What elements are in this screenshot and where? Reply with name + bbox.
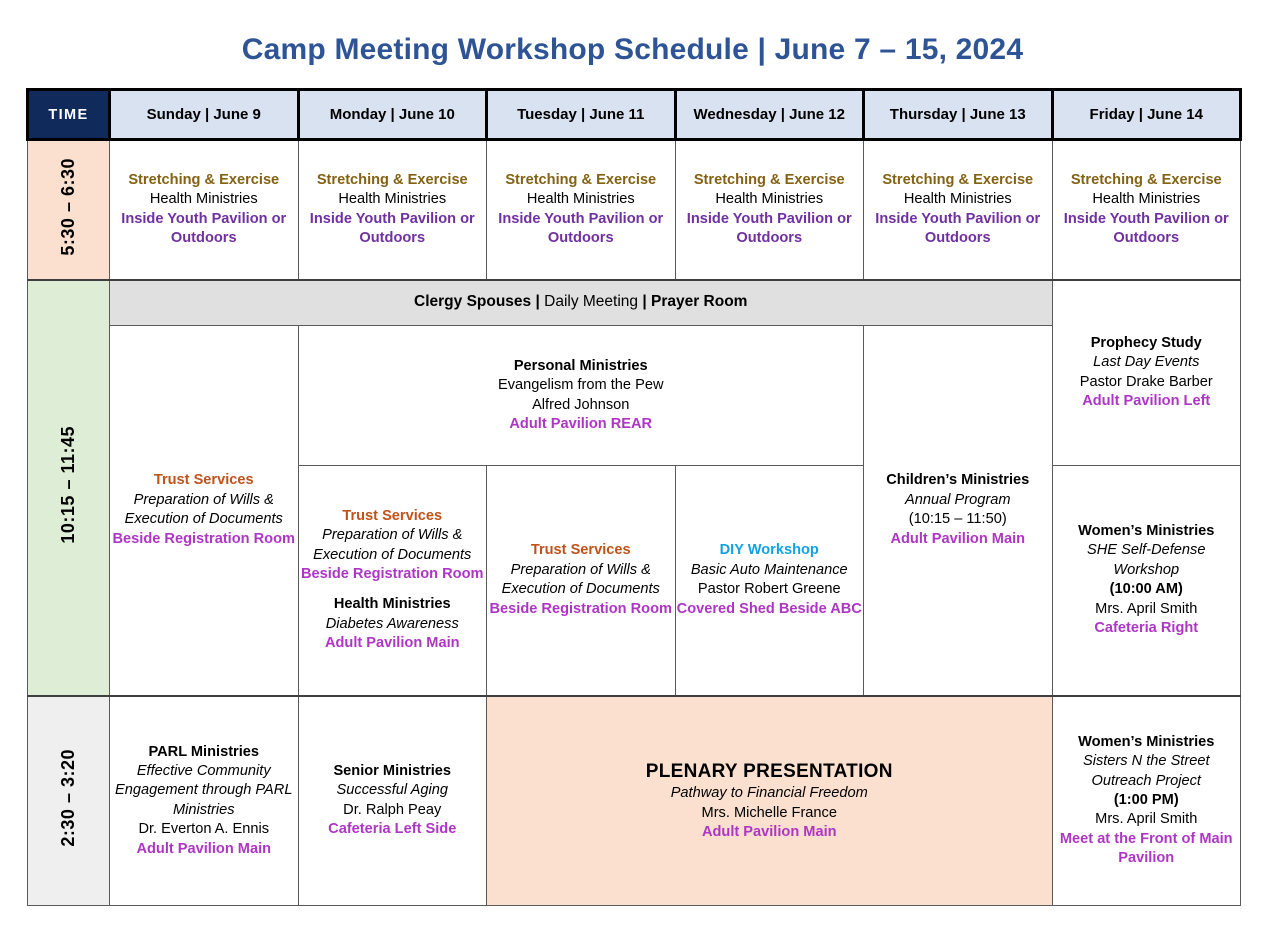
- event-location: Inside Youth Pavilion or Outdoors: [487, 210, 675, 249]
- cell-midday-friday-prophecy[interactable]: Prophecy Study Last Day Events Pastor Dr…: [1052, 280, 1241, 466]
- event-dept: Health Ministries: [1053, 190, 1241, 209]
- event-dept: Health Ministries: [487, 190, 675, 209]
- event-subtitle: Preparation of Wills & Execution of Docu…: [299, 526, 487, 565]
- event-dept: Health Ministries: [110, 190, 298, 209]
- cell-midday-tuesday-trust[interactable]: Trust Services Preparation of Wills & Ex…: [487, 466, 676, 696]
- event-location: Beside Registration Room: [487, 600, 675, 619]
- event-location: Adult Pavilion Main: [110, 840, 298, 859]
- event-location: Beside Registration Room: [299, 565, 487, 584]
- cell-midday-personal-ministries[interactable]: Personal Ministries Evangelism from the …: [298, 326, 864, 466]
- event-subtitle: Evangelism from the Pew: [299, 376, 864, 395]
- event-title: Trust Services: [110, 471, 298, 490]
- event-subtitle: Preparation of Wills & Execution of Docu…: [110, 491, 298, 530]
- event-time-note: (10:15 – 11:50): [864, 510, 1052, 529]
- cell-midday-wednesday-diy[interactable]: DIY Workshop Basic Auto Maintenance Past…: [675, 466, 864, 696]
- header-day-thursday[interactable]: Thursday | June 13: [864, 90, 1053, 140]
- event-location: Cafeteria Right: [1053, 619, 1241, 638]
- event-subtitle: Pathway to Financial Freedom: [487, 784, 1052, 803]
- event-title: Children’s Ministries: [864, 471, 1052, 490]
- event-location: Adult Pavilion Main: [487, 823, 1052, 842]
- event-title: Stretching & Exercise: [299, 171, 487, 190]
- cell-afternoon-friday-womens[interactable]: Women’s Ministries Sisters N the Street …: [1052, 696, 1241, 906]
- clergy-room: Prayer Room: [651, 293, 747, 310]
- event-title: DIY Workshop: [676, 541, 864, 560]
- cell-afternoon-sunday-parl[interactable]: PARL Ministries Effective Community Enga…: [110, 696, 299, 906]
- event-presenter: Pastor Robert Greene: [676, 580, 864, 599]
- event-presenter: Pastor Drake Barber: [1053, 373, 1241, 392]
- table-header-row: TIME Sunday | June 9 Monday | June 10 Tu…: [28, 90, 1241, 140]
- event-time-note: (1:00 PM): [1053, 791, 1241, 810]
- event-subtitle-2: Diabetes Awareness: [299, 615, 487, 634]
- event-location: Covered Shed Beside ABC: [676, 600, 864, 619]
- event-presenter: Alfred Johnson: [299, 396, 864, 415]
- header-day-friday[interactable]: Friday | June 14: [1052, 90, 1241, 140]
- event-location: Inside Youth Pavilion or Outdoors: [299, 210, 487, 249]
- separator-1: |: [531, 293, 544, 310]
- cell-afternoon-plenary[interactable]: PLENARY PRESENTATION Pathway to Financia…: [487, 696, 1053, 906]
- cell-midday-friday-womens[interactable]: Women’s Ministries SHE Self-Defense Work…: [1052, 466, 1241, 696]
- clergy-title: Clergy Spouses: [414, 293, 531, 310]
- header-day-sunday[interactable]: Sunday | June 9: [110, 90, 299, 140]
- header-day-tuesday[interactable]: Tuesday | June 11: [487, 90, 676, 140]
- event-title: PARL Ministries: [110, 743, 298, 762]
- event-subtitle: Effective Community Engagement through P…: [110, 762, 298, 820]
- cell-morning-friday[interactable]: Stretching & Exercise Health Ministries …: [1052, 140, 1241, 280]
- event-presenter: Mrs. Michelle France: [487, 804, 1052, 823]
- event-title: Senior Ministries: [299, 762, 487, 781]
- event-title: Stretching & Exercise: [1053, 171, 1241, 190]
- event-subtitle: Annual Program: [864, 491, 1052, 510]
- event-time-note: (10:00 AM): [1053, 580, 1241, 599]
- event-title: Women’s Ministries: [1053, 522, 1241, 541]
- page-title: Camp Meeting Workshop Schedule | June 7 …: [0, 0, 1265, 88]
- event-title: Prophecy Study: [1053, 334, 1241, 353]
- cell-morning-monday[interactable]: Stretching & Exercise Health Ministries …: [298, 140, 487, 280]
- event-location: Cafeteria Left Side: [299, 820, 487, 839]
- event-location-2: Adult Pavilion Main: [299, 634, 487, 653]
- event-title: Stretching & Exercise: [110, 171, 298, 190]
- event-location: Adult Pavilion Main: [864, 530, 1052, 549]
- header-day-monday[interactable]: Monday | June 10: [298, 90, 487, 140]
- header-time: TIME: [28, 90, 110, 140]
- event-title: Stretching & Exercise: [487, 171, 675, 190]
- workshop-schedule-table: TIME Sunday | June 9 Monday | June 10 Tu…: [26, 88, 1242, 906]
- event-title: Stretching & Exercise: [864, 171, 1052, 190]
- event-dept: Health Ministries: [676, 190, 864, 209]
- header-day-wednesday[interactable]: Wednesday | June 12: [675, 90, 864, 140]
- event-location: Inside Youth Pavilion or Outdoors: [864, 210, 1052, 249]
- time-label-afternoon: 2:30 – 3:20: [28, 696, 110, 906]
- event-location: Beside Registration Room: [110, 530, 298, 549]
- cell-morning-thursday[interactable]: Stretching & Exercise Health Ministries …: [864, 140, 1053, 280]
- event-title: Trust Services: [487, 541, 675, 560]
- event-location: Adult Pavilion Left: [1053, 392, 1241, 411]
- event-presenter: Mrs. April Smith: [1053, 810, 1241, 829]
- cell-afternoon-monday-senior[interactable]: Senior Ministries Successful Aging Dr. R…: [298, 696, 487, 906]
- event-subtitle: Basic Auto Maintenance: [676, 561, 864, 580]
- event-dept: Health Ministries: [864, 190, 1052, 209]
- time-label-morning: 5:30 – 6:30: [28, 140, 110, 280]
- event-subtitle: Last Day Events: [1053, 353, 1241, 372]
- event-title-2: Health Ministries: [299, 595, 487, 614]
- event-subtitle: Successful Aging: [299, 781, 487, 800]
- separator-2: |: [638, 293, 651, 310]
- cell-midday-monday[interactable]: Trust Services Preparation of Wills & Ex…: [298, 466, 487, 696]
- event-title: Stretching & Exercise: [676, 171, 864, 190]
- cell-morning-wednesday[interactable]: Stretching & Exercise Health Ministries …: [675, 140, 864, 280]
- time-label-midday: 10:15 – 11:45: [28, 280, 110, 696]
- event-subtitle: Sisters N the Street Outreach Project: [1053, 752, 1241, 791]
- cell-morning-sunday[interactable]: Stretching & Exercise Health Ministries …: [110, 140, 299, 280]
- cell-midday-thursday-children[interactable]: Children’s Ministries Annual Program (10…: [864, 326, 1053, 696]
- event-presenter: Dr. Everton A. Ennis: [110, 820, 298, 839]
- event-subtitle: SHE Self-Defense Workshop: [1053, 541, 1241, 580]
- event-title: Trust Services: [299, 507, 487, 526]
- clergy-meeting: Daily Meeting: [544, 293, 638, 310]
- event-title: Women’s Ministries: [1053, 733, 1241, 752]
- schedule-container: TIME Sunday | June 9 Monday | June 10 Tu…: [0, 88, 1265, 906]
- cell-morning-tuesday[interactable]: Stretching & Exercise Health Ministries …: [487, 140, 676, 280]
- clergy-spouses-banner[interactable]: Clergy Spouses | Daily Meeting | Prayer …: [110, 280, 1053, 326]
- event-dept: Health Ministries: [299, 190, 487, 209]
- event-location: Meet at the Front of Main Pavilion: [1053, 830, 1241, 869]
- event-presenter: Dr. Ralph Peay: [299, 801, 487, 820]
- event-location: Adult Pavilion REAR: [299, 415, 864, 434]
- cell-midday-sunday-trust[interactable]: Trust Services Preparation of Wills & Ex…: [110, 326, 299, 696]
- event-title: Personal Ministries: [299, 357, 864, 376]
- row-clergy-banner: 10:15 – 11:45 Clergy Spouses | Daily Mee…: [28, 280, 1241, 326]
- row-afternoon: 2:30 – 3:20 PARL Ministries Effective Co…: [28, 696, 1241, 906]
- row-morning: 5:30 – 6:30 Stretching & Exercise Health…: [28, 140, 1241, 280]
- event-location: Inside Youth Pavilion or Outdoors: [1053, 210, 1241, 249]
- event-presenter: Mrs. April Smith: [1053, 600, 1241, 619]
- event-location: Inside Youth Pavilion or Outdoors: [676, 210, 864, 249]
- event-title: PLENARY PRESENTATION: [487, 759, 1052, 784]
- event-subtitle: Preparation of Wills & Execution of Docu…: [487, 561, 675, 600]
- spacer: [299, 584, 487, 595]
- event-location: Inside Youth Pavilion or Outdoors: [110, 210, 298, 249]
